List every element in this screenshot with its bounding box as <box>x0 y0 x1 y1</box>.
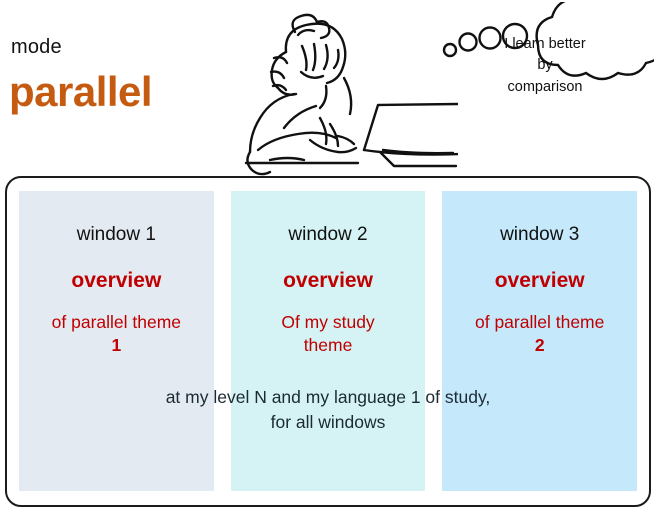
bubble-line-3: comparison <box>456 77 634 98</box>
mode-value: parallel <box>9 68 152 116</box>
window-3-subtitle-text: of parallel theme <box>475 312 604 332</box>
window-2-number: theme <box>235 334 422 357</box>
window-3-title: window 3 <box>442 224 637 246</box>
window-2-subtitle: Of my study theme <box>231 311 426 357</box>
window-1-heading: overview <box>19 269 214 293</box>
slide-canvas: mode parallel <box>0 0 656 514</box>
window-2-subtitle-text: Of my study <box>281 312 374 332</box>
window-panel-1[interactable]: window 1 overview of parallel theme 1 <box>19 191 214 491</box>
thought-bubble-text: I learn better by comparison <box>456 34 634 98</box>
window-1-number: 1 <box>23 334 210 357</box>
window-2-title: window 2 <box>231 224 426 246</box>
window-1-subtitle-text: of parallel theme <box>52 312 181 332</box>
window-1-title: window 1 <box>19 224 214 246</box>
window-panel-2[interactable]: window 2 overview Of my study theme <box>231 191 426 491</box>
bubble-line-1: I learn better <box>456 34 634 55</box>
window-3-heading: overview <box>442 269 637 293</box>
windows-row: window 1 overview of parallel theme 1 wi… <box>19 191 637 491</box>
window-3-number: 2 <box>446 334 633 357</box>
mode-label: mode <box>11 36 62 59</box>
window-1-subtitle: of parallel theme 1 <box>19 311 214 357</box>
bubble-line-2: by <box>456 55 634 76</box>
window-3-subtitle: of parallel theme 2 <box>442 311 637 357</box>
window-panel-3[interactable]: window 3 overview of parallel theme 2 <box>442 191 637 491</box>
person-at-laptop-icon <box>198 0 458 178</box>
window-2-heading: overview <box>231 269 426 293</box>
